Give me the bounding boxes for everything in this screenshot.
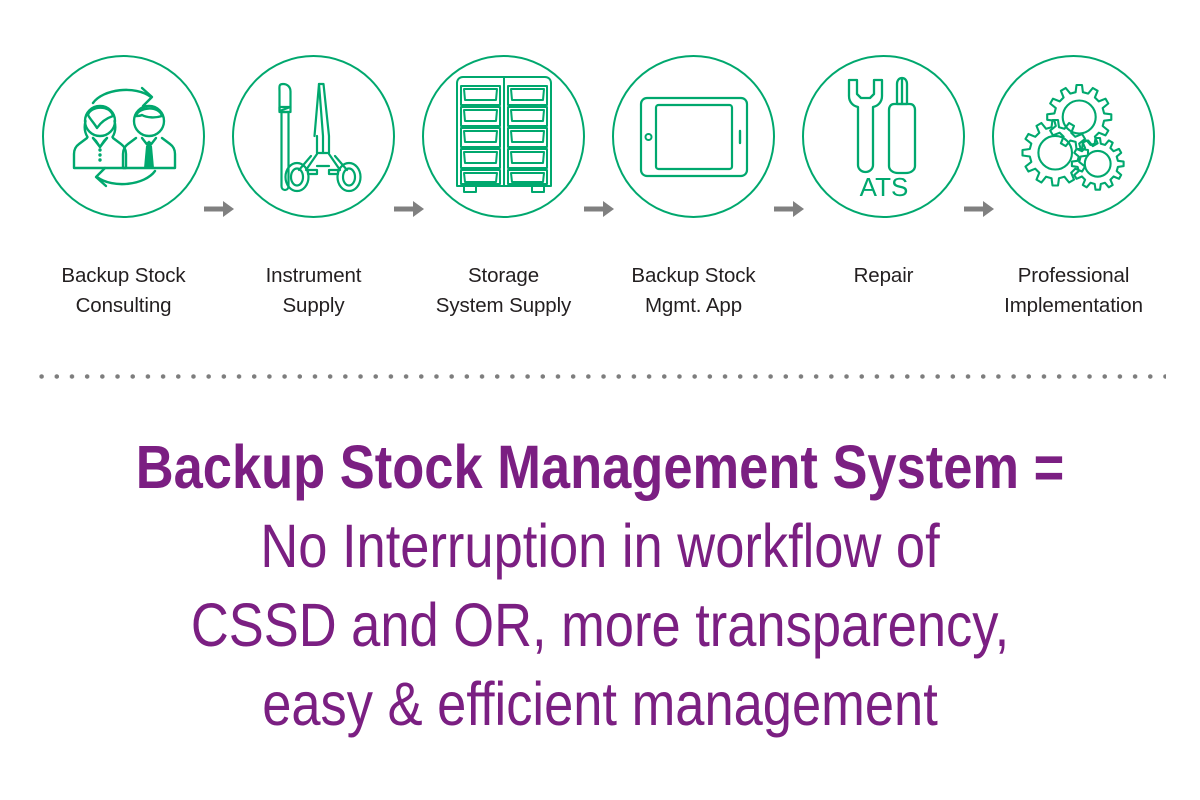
step-circle (422, 55, 585, 218)
process-step-backup-stock-mgmt-app[interactable] (612, 55, 775, 245)
storage-trays-rack-icon (448, 74, 560, 200)
step-circle (992, 55, 1155, 218)
step-circle (612, 55, 775, 218)
step-label-backup-stock-consulting: Backup Stock Consulting (42, 261, 205, 321)
headline-line-4: easy & efficient management (84, 665, 1116, 744)
step-circle: ATS (802, 55, 965, 218)
step-circle (232, 55, 395, 218)
tablet-device-icon (639, 96, 749, 178)
process-labels-row: Backup Stock Consulting Instrument Suppl… (0, 261, 1200, 333)
arrow-right-icon (964, 199, 995, 219)
consulting-people-cycle-icon (63, 76, 185, 198)
arrow-right-icon (204, 199, 235, 219)
step-label-storage-system-supply: Storage System Supply (422, 261, 585, 321)
step-label-backup-stock-mgmt-app: Backup Stock Mgmt. App (612, 261, 775, 321)
arrow-right-icon (584, 199, 615, 219)
step-label-repair: Repair (802, 261, 965, 291)
process-step-professional-implementation[interactable] (992, 55, 1155, 245)
flow-arrow-5 (965, 55, 992, 245)
process-step-backup-stock-consulting[interactable] (42, 55, 205, 245)
three-gears-icon (1018, 81, 1130, 193)
process-step-storage-system-supply[interactable] (422, 55, 585, 245)
surgical-instruments-icon (259, 78, 369, 196)
arrow-right-icon (394, 199, 425, 219)
step-circle (42, 55, 205, 218)
process-flow-row: ATS (0, 55, 1200, 245)
process-step-instrument-supply[interactable] (232, 55, 395, 245)
headline-block: Backup Stock Management System = No Inte… (0, 428, 1200, 744)
headline-line-1: Backup Stock Management System = (84, 428, 1116, 507)
step-label-instrument-supply: Instrument Supply (232, 261, 395, 321)
flow-arrow-2 (395, 55, 422, 245)
headline-line-3: CSSD and OR, more transparency, (84, 586, 1116, 665)
headline-line-2: No Interruption in workflow of (84, 507, 1116, 586)
flow-arrow-4 (775, 55, 802, 245)
flow-arrow-3 (585, 55, 612, 245)
step-label-professional-implementation: Professional Implementation (992, 261, 1155, 321)
process-step-repair[interactable]: ATS (802, 55, 965, 245)
dotted-divider (34, 374, 1166, 379)
arrow-right-icon (774, 199, 805, 219)
flow-arrow-1 (205, 55, 232, 245)
repair-icon-caption: ATS (859, 172, 908, 200)
wrench-screwdriver-ats-icon: ATS (834, 74, 934, 200)
